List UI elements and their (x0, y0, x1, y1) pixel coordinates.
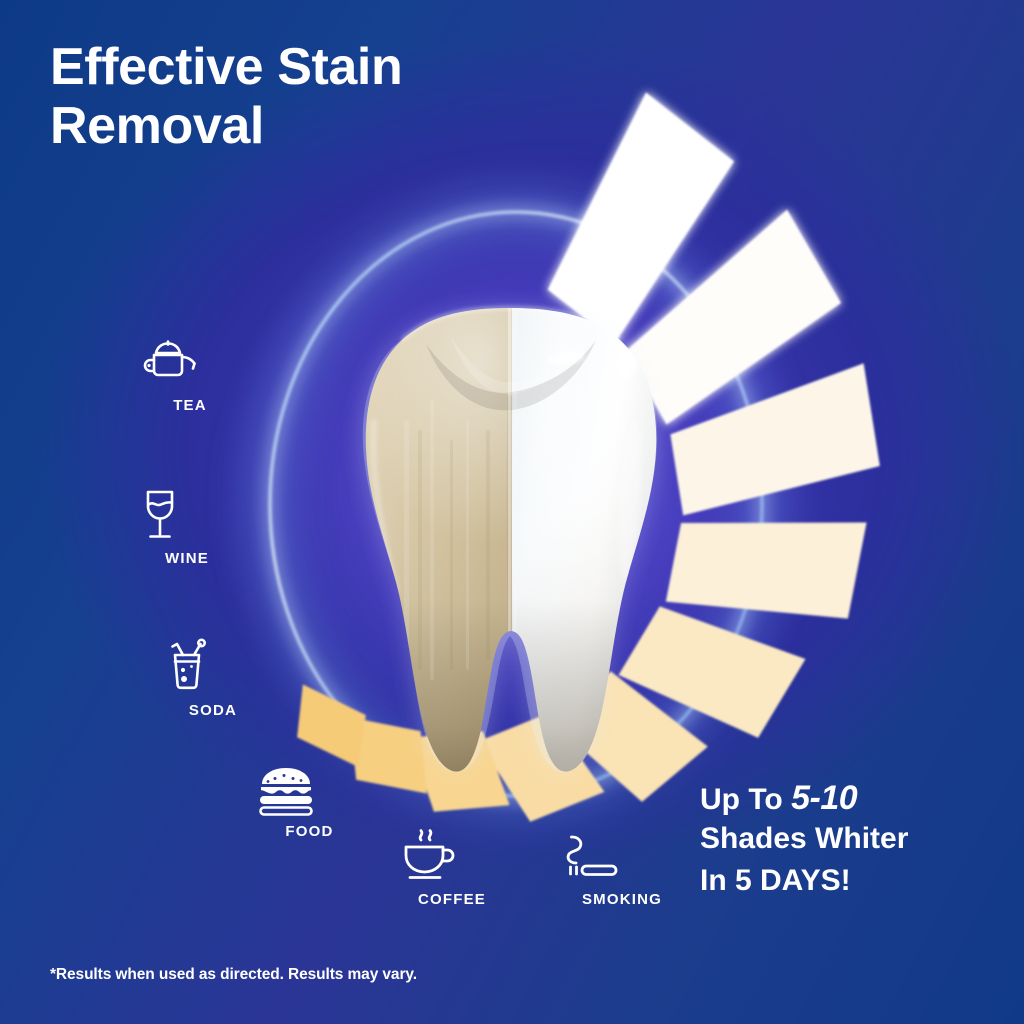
whitening-claim: Up To 5-10 Shades Whiter In 5 DAYS! (700, 778, 1000, 903)
shade-tile (604, 210, 851, 425)
stain-source-soda[interactable]: SODA (163, 637, 263, 719)
claim-line-1: Up To 5-10 (700, 778, 1000, 819)
cigarette-icon (557, 832, 687, 884)
stain-source-tea[interactable]: TEA (140, 336, 240, 414)
stain-source-label: WINE (137, 550, 237, 567)
stain-source-coffee[interactable]: COFFEE (397, 828, 507, 908)
shade-tile (551, 655, 708, 814)
shade-tile (664, 363, 883, 515)
coffee-cup-icon (397, 828, 507, 884)
center-glow (222, 200, 812, 800)
shade-tile (666, 488, 867, 637)
claim-prefix: Up To (700, 783, 791, 816)
teapot-icon (140, 336, 240, 390)
page-title-line-1: Effective Stain (50, 38, 610, 97)
glow-ring (256, 196, 776, 812)
promo-graphic: TEA WINE SODA (0, 0, 1024, 1024)
tooth-illustration (330, 300, 690, 810)
shade-tile (478, 705, 604, 829)
burger-icon (257, 766, 362, 816)
stain-source-label: SODA (163, 702, 263, 719)
claim-line-2: Shades Whiter (700, 819, 1000, 858)
page-title: Effective Stain Removal (50, 38, 610, 156)
stain-source-smoking[interactable]: SMOKING (557, 832, 687, 908)
soda-glass-icon (163, 637, 263, 695)
page-title-line-2: Removal (50, 97, 610, 156)
stain-source-label: TEA (140, 397, 240, 414)
shade-tile (281, 684, 380, 767)
stain-source-food[interactable]: FOOD (257, 766, 362, 840)
claim-line-3: In 5 DAYS! (700, 858, 1000, 903)
stain-source-wine[interactable]: WINE (137, 487, 237, 567)
stain-source-label: SMOKING (557, 891, 687, 908)
disclaimer: *Results when used as directed. Results … (50, 966, 417, 984)
stain-source-label: COFFEE (397, 891, 507, 908)
shade-guide-arc (250, 215, 930, 805)
wine-glass-icon (137, 487, 237, 543)
claim-shade-range: 5-10 (791, 779, 857, 817)
stain-source-label: FOOD (257, 823, 362, 840)
shade-tile (409, 729, 509, 813)
shade-tile (619, 581, 806, 754)
